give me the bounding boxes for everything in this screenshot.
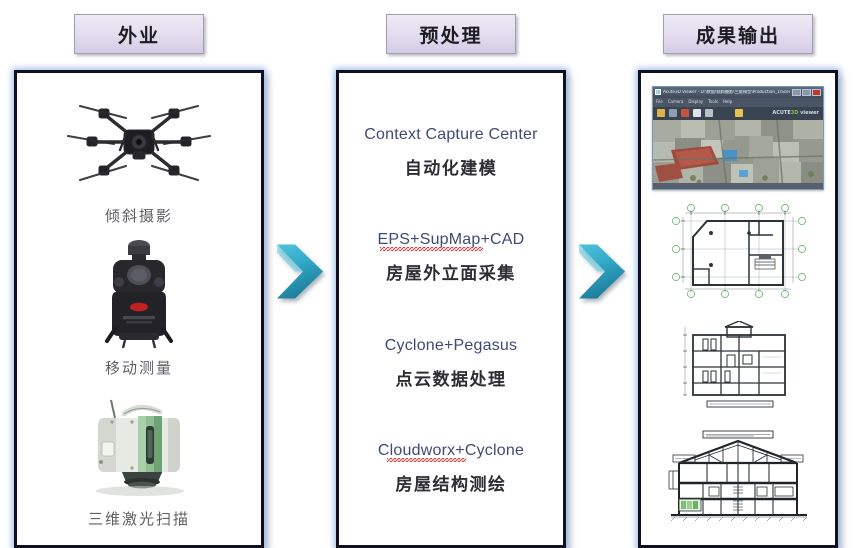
process-automatic-modeling: Context Capture Center 自动化建模 — [349, 125, 553, 179]
acute3d-viewer-window[interactable]: Acute3D Viewer - D:\数据\倾斜摄影\三维模型\Product… — [652, 86, 824, 190]
process-structure-surveying: Cloudworx+Cyclone 房屋结构测绘 — [349, 441, 553, 495]
window-controls[interactable] — [792, 89, 821, 96]
cad-floor-plan-drawing — [663, 203, 813, 299]
stage-preprocessing: 预处理 Context Capture Center 自动化建模 EPS+Sup… — [336, 0, 566, 548]
laser-scanner-icon — [23, 384, 255, 505]
task-name-facade-collection: 房屋外立面采集 — [386, 259, 516, 284]
output-floor-plan — [647, 195, 829, 309]
stage-field-work: 外业 — [14, 0, 264, 548]
measure-icon[interactable] — [681, 109, 689, 117]
viewer-statusbar — [653, 183, 823, 189]
arrow-field-to-preprocessing — [264, 0, 336, 548]
output-3d-model-viewer: Acute3D Viewer - D:\数据\倾斜摄影\三维模型\Product… — [647, 81, 829, 195]
software-name-structure-surveying: Cloudworx+Cyclone — [378, 441, 524, 461]
open-folder-icon[interactable] — [657, 109, 665, 117]
backpack-scanner-icon — [23, 232, 255, 353]
cad-section-drawing — [659, 429, 817, 527]
output-section-drawing — [647, 422, 829, 536]
maximize-button[interactable] — [802, 89, 811, 96]
chevron-right-icon — [575, 241, 629, 303]
stage-deliverables: 成果输出 Acute3D Viewer - D:\数据\倾斜摄影\三维模型\Pr… — [638, 0, 838, 548]
menu-display[interactable]: Display — [688, 100, 703, 104]
workflow-diagram: 外业 — [0, 0, 854, 548]
software-name-automatic-modeling: Context Capture Center — [364, 125, 537, 145]
arrow-preprocessing-to-output — [566, 0, 638, 548]
chevron-right-icon — [273, 241, 327, 303]
cad-elevation-drawing — [663, 321, 813, 409]
viewer-menubar[interactable]: File Camera Display Tools Help — [653, 98, 823, 107]
equipment-laser-scanning: 三维激光扫描 — [23, 384, 255, 535]
refresh-icon[interactable] — [669, 109, 677, 117]
viewer-titlebar: Acute3D Viewer - D:\数据\倾斜摄影\三维模型\Product… — [653, 87, 823, 98]
process-point-cloud-processing: Cyclone+Pegasus 点云数据处理 — [349, 336, 553, 390]
panel-deliverables: Acute3D Viewer - D:\数据\倾斜摄影\三维模型\Product… — [638, 70, 838, 548]
stage-header-preprocessing: 预处理 — [386, 14, 516, 54]
equipment-oblique-photography: 倾斜摄影 — [23, 81, 255, 232]
equipment-label-laser-scanning: 三维激光扫描 — [88, 505, 190, 535]
output-elevation-drawing — [647, 308, 829, 422]
viewer-toolbar[interactable]: ACUTE3D viewer — [653, 107, 823, 120]
task-name-point-cloud-processing: 点云数据处理 — [396, 365, 507, 390]
equipment-label-oblique-photography: 倾斜摄影 — [105, 202, 173, 232]
software-name-facade-collection: EPS+SupMap+CAD — [378, 230, 525, 250]
3d-model-canvas[interactable] — [653, 120, 823, 183]
export-icon[interactable] — [735, 109, 743, 117]
panel-preprocessing: Context Capture Center 自动化建模 EPS+SupMap+… — [336, 70, 566, 548]
panel-field-work: 倾斜摄影 — [14, 70, 264, 548]
menu-camera[interactable]: Camera — [668, 100, 684, 104]
settings-icon[interactable] — [693, 109, 701, 117]
menu-file[interactable]: File — [656, 100, 663, 104]
task-name-automatic-modeling: 自动化建模 — [405, 154, 498, 179]
stage-header-field-work: 外业 — [74, 14, 204, 54]
software-name-point-cloud-processing: Cyclone+Pegasus — [385, 336, 517, 356]
task-name-structure-surveying: 房屋结构测绘 — [396, 470, 507, 495]
acute3d-logo: ACUTE3D viewer — [772, 110, 819, 116]
fullscreen-icon[interactable] — [705, 109, 713, 117]
menu-tools[interactable]: Tools — [708, 100, 718, 104]
equipment-label-mobile-mapping: 移动测量 — [105, 354, 173, 384]
menu-help[interactable]: Help — [723, 100, 732, 104]
process-facade-collection: EPS+SupMap+CAD 房屋外立面采集 — [349, 230, 553, 284]
stage-header-deliverables: 成果输出 — [663, 14, 813, 54]
equipment-mobile-mapping: 移动测量 — [23, 232, 255, 383]
close-button[interactable] — [812, 89, 821, 96]
viewer-window-title: Acute3D Viewer - D:\数据\倾斜摄影\三维模型\Product… — [663, 90, 790, 94]
app-icon — [655, 89, 661, 95]
drone-hexacopter-icon — [23, 81, 255, 202]
minimize-button[interactable] — [792, 89, 801, 96]
